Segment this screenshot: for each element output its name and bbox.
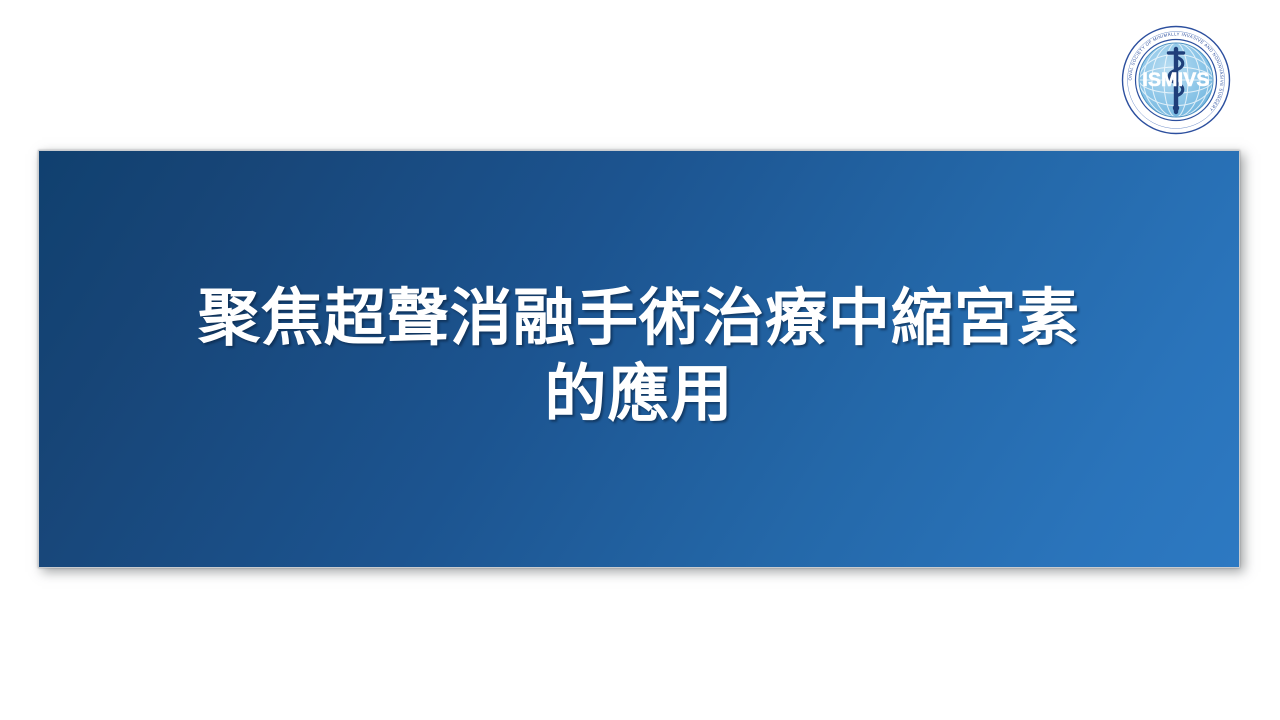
title-panel: 聚焦超聲消融手術治療中縮宮素 的應用 bbox=[38, 150, 1240, 568]
title-line-1: 聚焦超聲消融手術治療中縮宮素 bbox=[39, 280, 1239, 356]
presentation-slide: INTERNATIONAL SOCIETY OF MINIMALLY INVAS… bbox=[0, 0, 1280, 720]
logo-acronym: ISMIVS bbox=[1142, 69, 1209, 91]
title-line-2: 的應用 bbox=[39, 356, 1239, 432]
ismivs-logo: INTERNATIONAL SOCIETY OF MINIMALLY INVAS… bbox=[1118, 22, 1234, 138]
slide-title: 聚焦超聲消融手術治療中縮宮素 的應用 bbox=[39, 280, 1239, 438]
